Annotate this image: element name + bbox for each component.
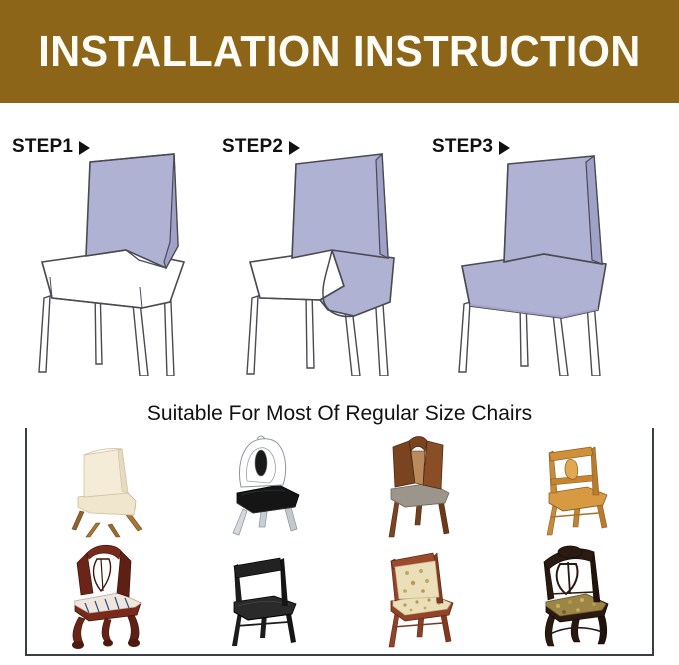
chair-thumbnail-7: [340, 542, 496, 654]
carved-victorian-chair-tapestry-seat: [544, 546, 608, 646]
step-block-1: STEP1: [8, 118, 220, 380]
header-banner: INSTALLATION INSTRUCTION: [0, 0, 679, 103]
page-title: INSTALLATION INSTRUCTION: [38, 30, 641, 74]
chair-thumbnail-1: [27, 432, 183, 542]
suitable-title-text: Suitable For Most Of Regular Size Chairs: [133, 402, 546, 426]
mahogany-chippendale-chair-striped-seat: [72, 545, 141, 649]
chair-examples-grid: [27, 432, 652, 654]
dark-wood-splat-back-chair-gray-seat: [389, 437, 449, 538]
suitable-title: Suitable For Most Of Regular Size Chairs: [0, 400, 679, 428]
step-3-illustration: [434, 150, 634, 376]
chair-thumbnail-5: [27, 542, 183, 654]
mahogany-chair-floral-upholstered-back: [389, 553, 453, 647]
black-painted-chair-black-leather-seat: [232, 558, 296, 646]
cream-upholstered-parsons-chair: [72, 449, 142, 537]
chair-thumbnail-6: [183, 542, 339, 654]
chair-thumbnail-4: [496, 432, 652, 542]
step-block-2: STEP2: [218, 118, 430, 380]
honey-oak-fiddleback-chair: [547, 447, 607, 535]
steps-row: STEP1: [0, 118, 679, 380]
step-2-illustration: [224, 150, 424, 376]
installation-instruction-page: INSTALLATION INSTRUCTION STEP1: [0, 0, 679, 665]
step-1-illustration: [14, 150, 214, 376]
chair-thumbnail-2: [183, 432, 339, 542]
chair-thumbnail-3: [340, 432, 496, 542]
chair-thumbnail-8: [496, 542, 652, 654]
chrome-ornate-chair-black-seat: [233, 436, 299, 535]
step-block-3: STEP3: [428, 118, 640, 380]
